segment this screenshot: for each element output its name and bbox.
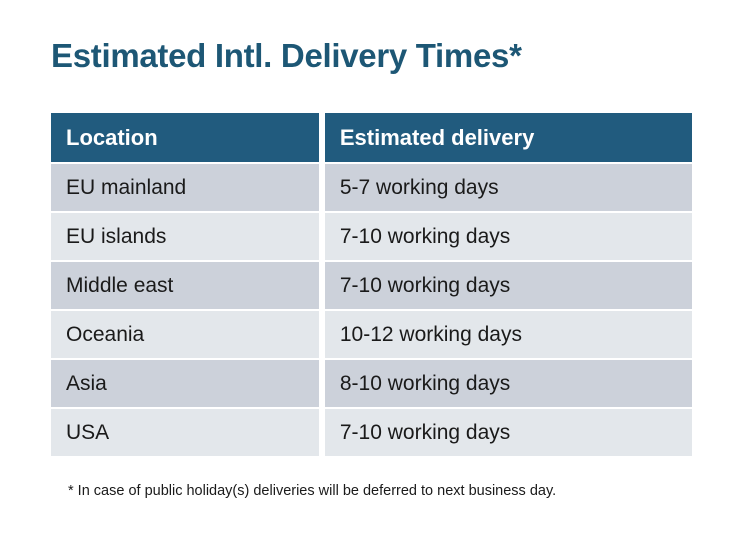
cell-location: EU islands <box>51 211 325 260</box>
cell-estimated-delivery: 5-7 working days <box>325 162 692 211</box>
column-header-location: Location <box>51 113 325 162</box>
table-row: Middle east 7-10 working days <box>51 260 692 309</box>
footnote: * In case of public holiday(s) deliverie… <box>68 481 556 501</box>
cell-estimated-delivery: 10-12 working days <box>325 309 692 358</box>
column-header-estimated-delivery: Estimated delivery <box>325 113 692 162</box>
table-row: EU islands 7-10 working days <box>51 211 692 260</box>
cell-estimated-delivery: 7-10 working days <box>325 407 692 456</box>
delivery-times-page: Estimated Intl. Delivery Times* Location… <box>0 0 745 536</box>
table-header: Location Estimated delivery <box>51 113 692 162</box>
table-body: EU mainland 5-7 working days EU islands … <box>51 162 692 456</box>
cell-location: USA <box>51 407 325 456</box>
table-row: EU mainland 5-7 working days <box>51 162 692 211</box>
table-row: USA 7-10 working days <box>51 407 692 456</box>
cell-estimated-delivery: 8-10 working days <box>325 358 692 407</box>
table-row: Asia 8-10 working days <box>51 358 692 407</box>
cell-estimated-delivery: 7-10 working days <box>325 211 692 260</box>
cell-location: Asia <box>51 358 325 407</box>
cell-location: Middle east <box>51 260 325 309</box>
table-row: Oceania 10-12 working days <box>51 309 692 358</box>
cell-location: EU mainland <box>51 162 325 211</box>
cell-location: Oceania <box>51 309 325 358</box>
page-title: Estimated Intl. Delivery Times* <box>51 36 522 76</box>
table-header-row: Location Estimated delivery <box>51 113 692 162</box>
cell-estimated-delivery: 7-10 working days <box>325 260 692 309</box>
delivery-times-table: Location Estimated delivery EU mainland … <box>51 113 692 456</box>
